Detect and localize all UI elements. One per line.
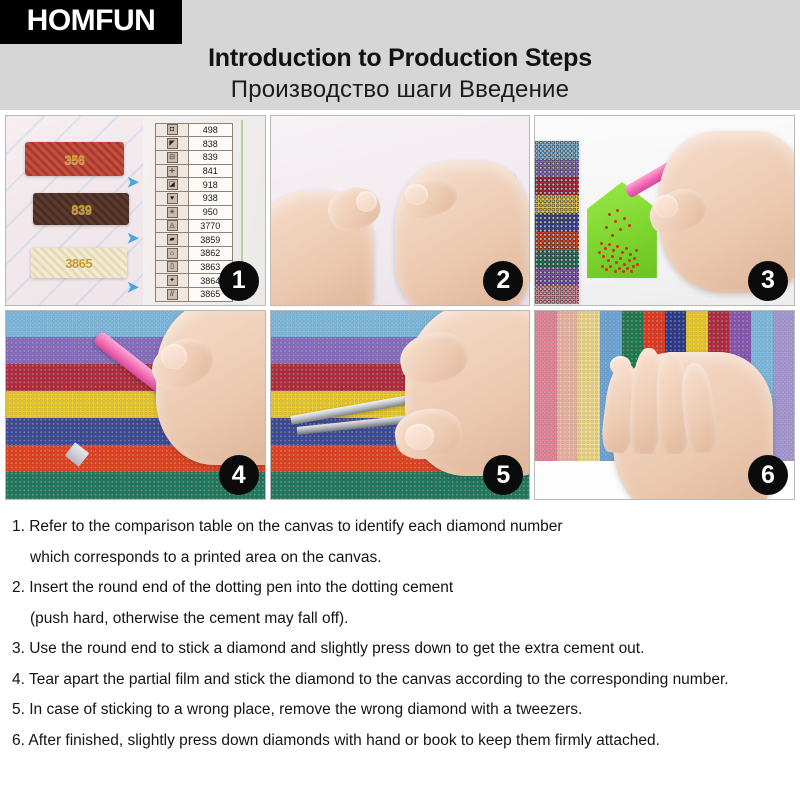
symbol-icon: ✳	[167, 207, 178, 218]
symbol-icon: ◘	[167, 124, 178, 135]
chart-symbol-cell: ✦	[156, 274, 189, 287]
finger-nail	[161, 344, 187, 369]
chart-number-cell: 3862	[189, 247, 232, 260]
chart-symbol-cell: ◪	[156, 178, 189, 191]
page-title-english: Introduction to Production Steps	[0, 44, 800, 73]
chart-symbol-cell: ▯	[156, 261, 189, 274]
chart-number-cell: 3770	[189, 220, 232, 233]
instructions-list: 1. Refer to the comparison table on the …	[0, 505, 800, 800]
chart-row: ⊟839	[156, 151, 231, 165]
chart-number-cell: 3859	[189, 233, 232, 246]
canvas-strip	[535, 141, 579, 305]
instruction-line: 6. After finished, slightly press down d…	[12, 733, 784, 749]
page-header: HOMFUN Introduction to Production Steps …	[0, 0, 800, 110]
diamond-dot	[635, 249, 638, 252]
bead-texture	[535, 311, 557, 462]
diamond-dot	[623, 217, 626, 220]
diamond-dot	[608, 243, 611, 246]
diamond-dot	[601, 265, 604, 268]
symbol-icon: ✦	[167, 275, 178, 286]
step-panel-2: 2	[270, 115, 531, 306]
chart-symbol-cell: ▰	[156, 233, 189, 246]
diamond-dot	[632, 265, 635, 268]
instruction-line: 1. Refer to the comparison table on the …	[12, 519, 784, 535]
diamond-dot	[626, 267, 629, 270]
bead-texture	[773, 311, 795, 462]
diamond-dot	[614, 220, 617, 223]
symbol-icon: ▯	[167, 261, 178, 272]
symbol-icon: ◬	[167, 220, 178, 231]
arrow-icon: ➤	[127, 229, 140, 247]
diamond-dot	[605, 226, 608, 229]
diamond-dot	[615, 261, 618, 264]
chart-symbol-cell: ⊟	[156, 151, 189, 164]
symbol-icon: ⊟	[167, 152, 178, 163]
step-badge-3: 3	[748, 261, 788, 301]
diamond-dot	[602, 255, 605, 258]
diamond-dot	[600, 242, 603, 245]
finger-nail	[654, 195, 677, 218]
logo-text: HOMFUN	[27, 6, 156, 38]
diamond-dot	[608, 213, 611, 216]
chart-row: ⌂3862	[156, 247, 231, 261]
diamond-dot	[636, 263, 639, 266]
diamond-dot	[611, 234, 614, 237]
step-badge-1: 1	[219, 261, 259, 301]
diamond-bag: 356	[25, 142, 124, 176]
diamond-bag: 839	[33, 193, 129, 225]
diamond-dot	[628, 224, 631, 227]
diamond-bag: 3865	[31, 248, 127, 278]
chart-row: ◪918	[156, 178, 231, 192]
chart-number-cell: 839	[189, 151, 232, 164]
diamond-dot	[628, 259, 631, 262]
diamond-dot	[598, 251, 601, 254]
right-finger-nail	[405, 184, 428, 205]
diamond-dot	[616, 209, 619, 212]
step-panel-5: 5	[270, 310, 531, 501]
instruction-line: 4. Tear apart the partial film and stick…	[12, 672, 784, 688]
chart-symbol-cell: ◘	[156, 124, 189, 137]
step-badge-4: 4	[219, 455, 259, 495]
thumb-nail	[405, 424, 433, 450]
chart-symbol-cell: ◤	[156, 137, 189, 150]
canvas-stripe	[535, 286, 579, 304]
canvas-stripe	[557, 311, 579, 462]
canvas-stripe	[578, 311, 600, 462]
diamond-dot	[611, 255, 614, 258]
step-panel-1: 356 839 3865 ➤ ➤ ➤ ◘498◤838⊟839✛841◪918♥…	[5, 115, 266, 306]
diamond-dot	[633, 257, 636, 260]
diamond-dot	[604, 247, 607, 250]
chart-row: ▰3859	[156, 233, 231, 247]
step-panel-3: 3	[534, 115, 795, 306]
chart-row: ◘498	[156, 124, 231, 138]
symbol-icon: ◤	[167, 138, 178, 149]
canvas-stripe	[535, 311, 557, 462]
chart-symbol-cell: ♥	[156, 192, 189, 205]
diamond-dot	[607, 259, 610, 262]
diamond-dot	[618, 267, 621, 270]
chart-symbol-cell: ✳	[156, 206, 189, 219]
chart-symbol-cell: ◬	[156, 220, 189, 233]
diamond-dot	[614, 270, 617, 273]
chart-row: ✳950	[156, 206, 231, 220]
bead-texture	[535, 141, 579, 305]
symbol-icon: ▰	[167, 234, 178, 245]
diamond-dot	[621, 251, 624, 254]
diamond-dot	[609, 265, 612, 268]
chart-symbol-cell: //	[156, 288, 189, 301]
chart-row: ◬3770	[156, 220, 231, 234]
instruction-line: (push hard, otherwise the cement may fal…	[12, 611, 784, 627]
finger-nail	[610, 356, 631, 375]
diamond-dot	[629, 253, 632, 256]
arrow-icon: ➤	[127, 173, 140, 191]
instruction-line: 2. Insert the round end of the dotting p…	[12, 580, 784, 596]
instruction-line: which corresponds to a printed area on t…	[12, 550, 784, 566]
page-title-russian: Производство шаги Введение	[0, 76, 800, 104]
dotting-cement	[354, 184, 389, 223]
chart-number-cell: 838	[189, 137, 232, 150]
chart-row: ♥938	[156, 192, 231, 206]
step-panel-6: 6	[534, 310, 795, 501]
arrow-icon: ➤	[127, 278, 140, 296]
diamond-dot	[619, 228, 622, 231]
symbol-icon: ✛	[167, 166, 178, 177]
chart-number-cell: 498	[189, 124, 232, 137]
chart-number-cell: 918	[189, 178, 232, 191]
step-badge-2: 2	[483, 261, 523, 301]
chart-number-cell: 841	[189, 165, 232, 178]
instruction-line: 5. In case of sticking to a wrong place,…	[12, 702, 784, 718]
chart-symbol-cell: ⌂	[156, 247, 189, 260]
diamond-dot	[616, 245, 619, 248]
step-panel-4: 4	[5, 310, 266, 501]
diamond-dot	[612, 249, 615, 252]
diamond-dot	[625, 247, 628, 250]
chart-row: ◤838	[156, 137, 231, 151]
chart-number-cell: 938	[189, 192, 232, 205]
symbol-icon: ◪	[167, 179, 178, 190]
chart-number-cell: 950	[189, 206, 232, 219]
diamond-dot	[630, 270, 633, 273]
chart-row: ✛841	[156, 165, 231, 179]
diamond-dot	[623, 263, 626, 266]
steps-photo-grid: 356 839 3865 ➤ ➤ ➤ ◘498◤838⊟839✛841◪918♥…	[5, 115, 795, 500]
instruction-line: 3. Use the round end to stick a diamond …	[12, 641, 784, 657]
tray-diamonds	[587, 182, 657, 278]
homfun-logo: HOMFUN	[0, 0, 182, 44]
bead-texture	[578, 311, 600, 462]
diamond-dot	[605, 268, 608, 271]
diamond-dot	[619, 257, 622, 260]
diamond-bags-area: 356 839 3865 ➤ ➤ ➤	[6, 116, 143, 305]
symbol-icon: //	[167, 289, 178, 300]
symbol-icon: ♥	[167, 193, 178, 204]
symbol-icon: ⌂	[167, 248, 178, 259]
step-badge-6: 6	[748, 455, 788, 495]
canvas-stripe	[773, 311, 795, 462]
diamond-dot	[622, 270, 625, 273]
bead-texture	[557, 311, 579, 462]
chart-symbol-cell: ✛	[156, 165, 189, 178]
